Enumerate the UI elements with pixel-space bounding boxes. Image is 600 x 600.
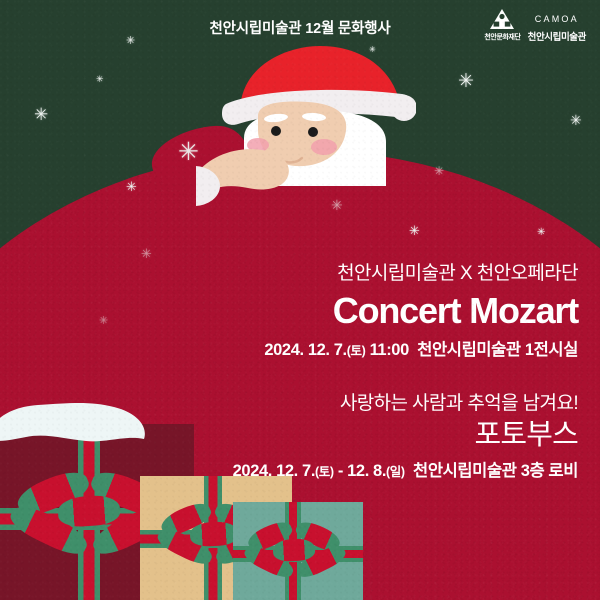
snowflake-icon: ✳ xyxy=(99,316,108,327)
snowflake-icon: ✳ xyxy=(96,75,104,84)
photobooth-title: 포토부스 xyxy=(233,418,578,453)
photobooth-detail: 2024. 12. 7.(토) - 12. 8.(일) 천안시립미술관 3층 로… xyxy=(233,461,578,482)
concert-place: 천안시립미술관 1전시실 xyxy=(417,341,578,359)
photobooth-dow-start: (토) xyxy=(315,465,334,479)
photobooth-kicker: 사랑하는 사람과 추억을 남겨요! xyxy=(233,392,578,416)
snowflake-icon: ✳ xyxy=(369,46,376,54)
photobooth-date-start: 2024. 12. 7. xyxy=(233,462,315,480)
photobooth-dash: - xyxy=(338,462,343,480)
event-concert: 천안시립미술관 X 천안오페라단 Concert Mozart 2024. 12… xyxy=(264,262,578,362)
snowflake-icon: ✳ xyxy=(570,113,582,127)
concert-dow: (토) xyxy=(347,344,366,358)
snowflake-icon: ✳ xyxy=(409,224,420,237)
poster-canvas: ✳ ✳ ✳ ✳ ✳ ✳ ✳ ✳ ✳ 천안시립미술관 12월 문화행사 천안문화재… xyxy=(0,0,600,600)
photobooth-date-end: 12. 8. xyxy=(347,462,386,480)
photobooth-place: 천안시립미술관 3층 로비 xyxy=(413,462,578,480)
photobooth-dow-end: (일) xyxy=(386,465,405,479)
snowflake-icon: ✳ xyxy=(34,106,48,123)
concert-kicker: 천안시립미술관 X 천안오페라단 xyxy=(264,262,578,286)
museum-name: 천안시립미술관 xyxy=(528,29,586,43)
concert-detail: 2024. 12. 7.(토) 11:00 천안시립미술관 1전시실 xyxy=(264,340,578,361)
camoa-wordmark: CAMOA xyxy=(535,14,579,24)
foundation-triangle-icon xyxy=(489,8,515,30)
concert-time: 11:00 xyxy=(370,341,409,359)
museum-logo: CAMOA 천안시립미술관 xyxy=(528,8,586,43)
snowflake-icon: ✳ xyxy=(458,72,474,91)
snowflake-icon: ✳ xyxy=(537,228,545,238)
concert-title: Concert Mozart xyxy=(264,290,578,332)
snowflake-icon: ✳ xyxy=(434,165,444,177)
snowflake-icon: ✳ xyxy=(141,247,152,260)
snowflake-icon: ✳ xyxy=(331,198,343,212)
santa-claus-icon xyxy=(196,46,416,221)
foundation-logo: 천안문화재단 xyxy=(484,8,520,42)
foundation-name: 천안문화재단 xyxy=(484,32,520,42)
gift-box-teal xyxy=(233,502,363,600)
snow-mound-icon xyxy=(0,399,150,445)
concert-date: 2024. 12. 7. xyxy=(264,341,346,359)
brand-logo: 천안문화재단 CAMOA 천안시립미술관 xyxy=(484,8,586,43)
event-photobooth: 사랑하는 사람과 추억을 남겨요! 포토부스 2024. 12. 7.(토) -… xyxy=(233,392,578,482)
snowflake-icon: ✳ xyxy=(178,140,199,165)
snowflake-icon: ✳ xyxy=(126,180,137,193)
